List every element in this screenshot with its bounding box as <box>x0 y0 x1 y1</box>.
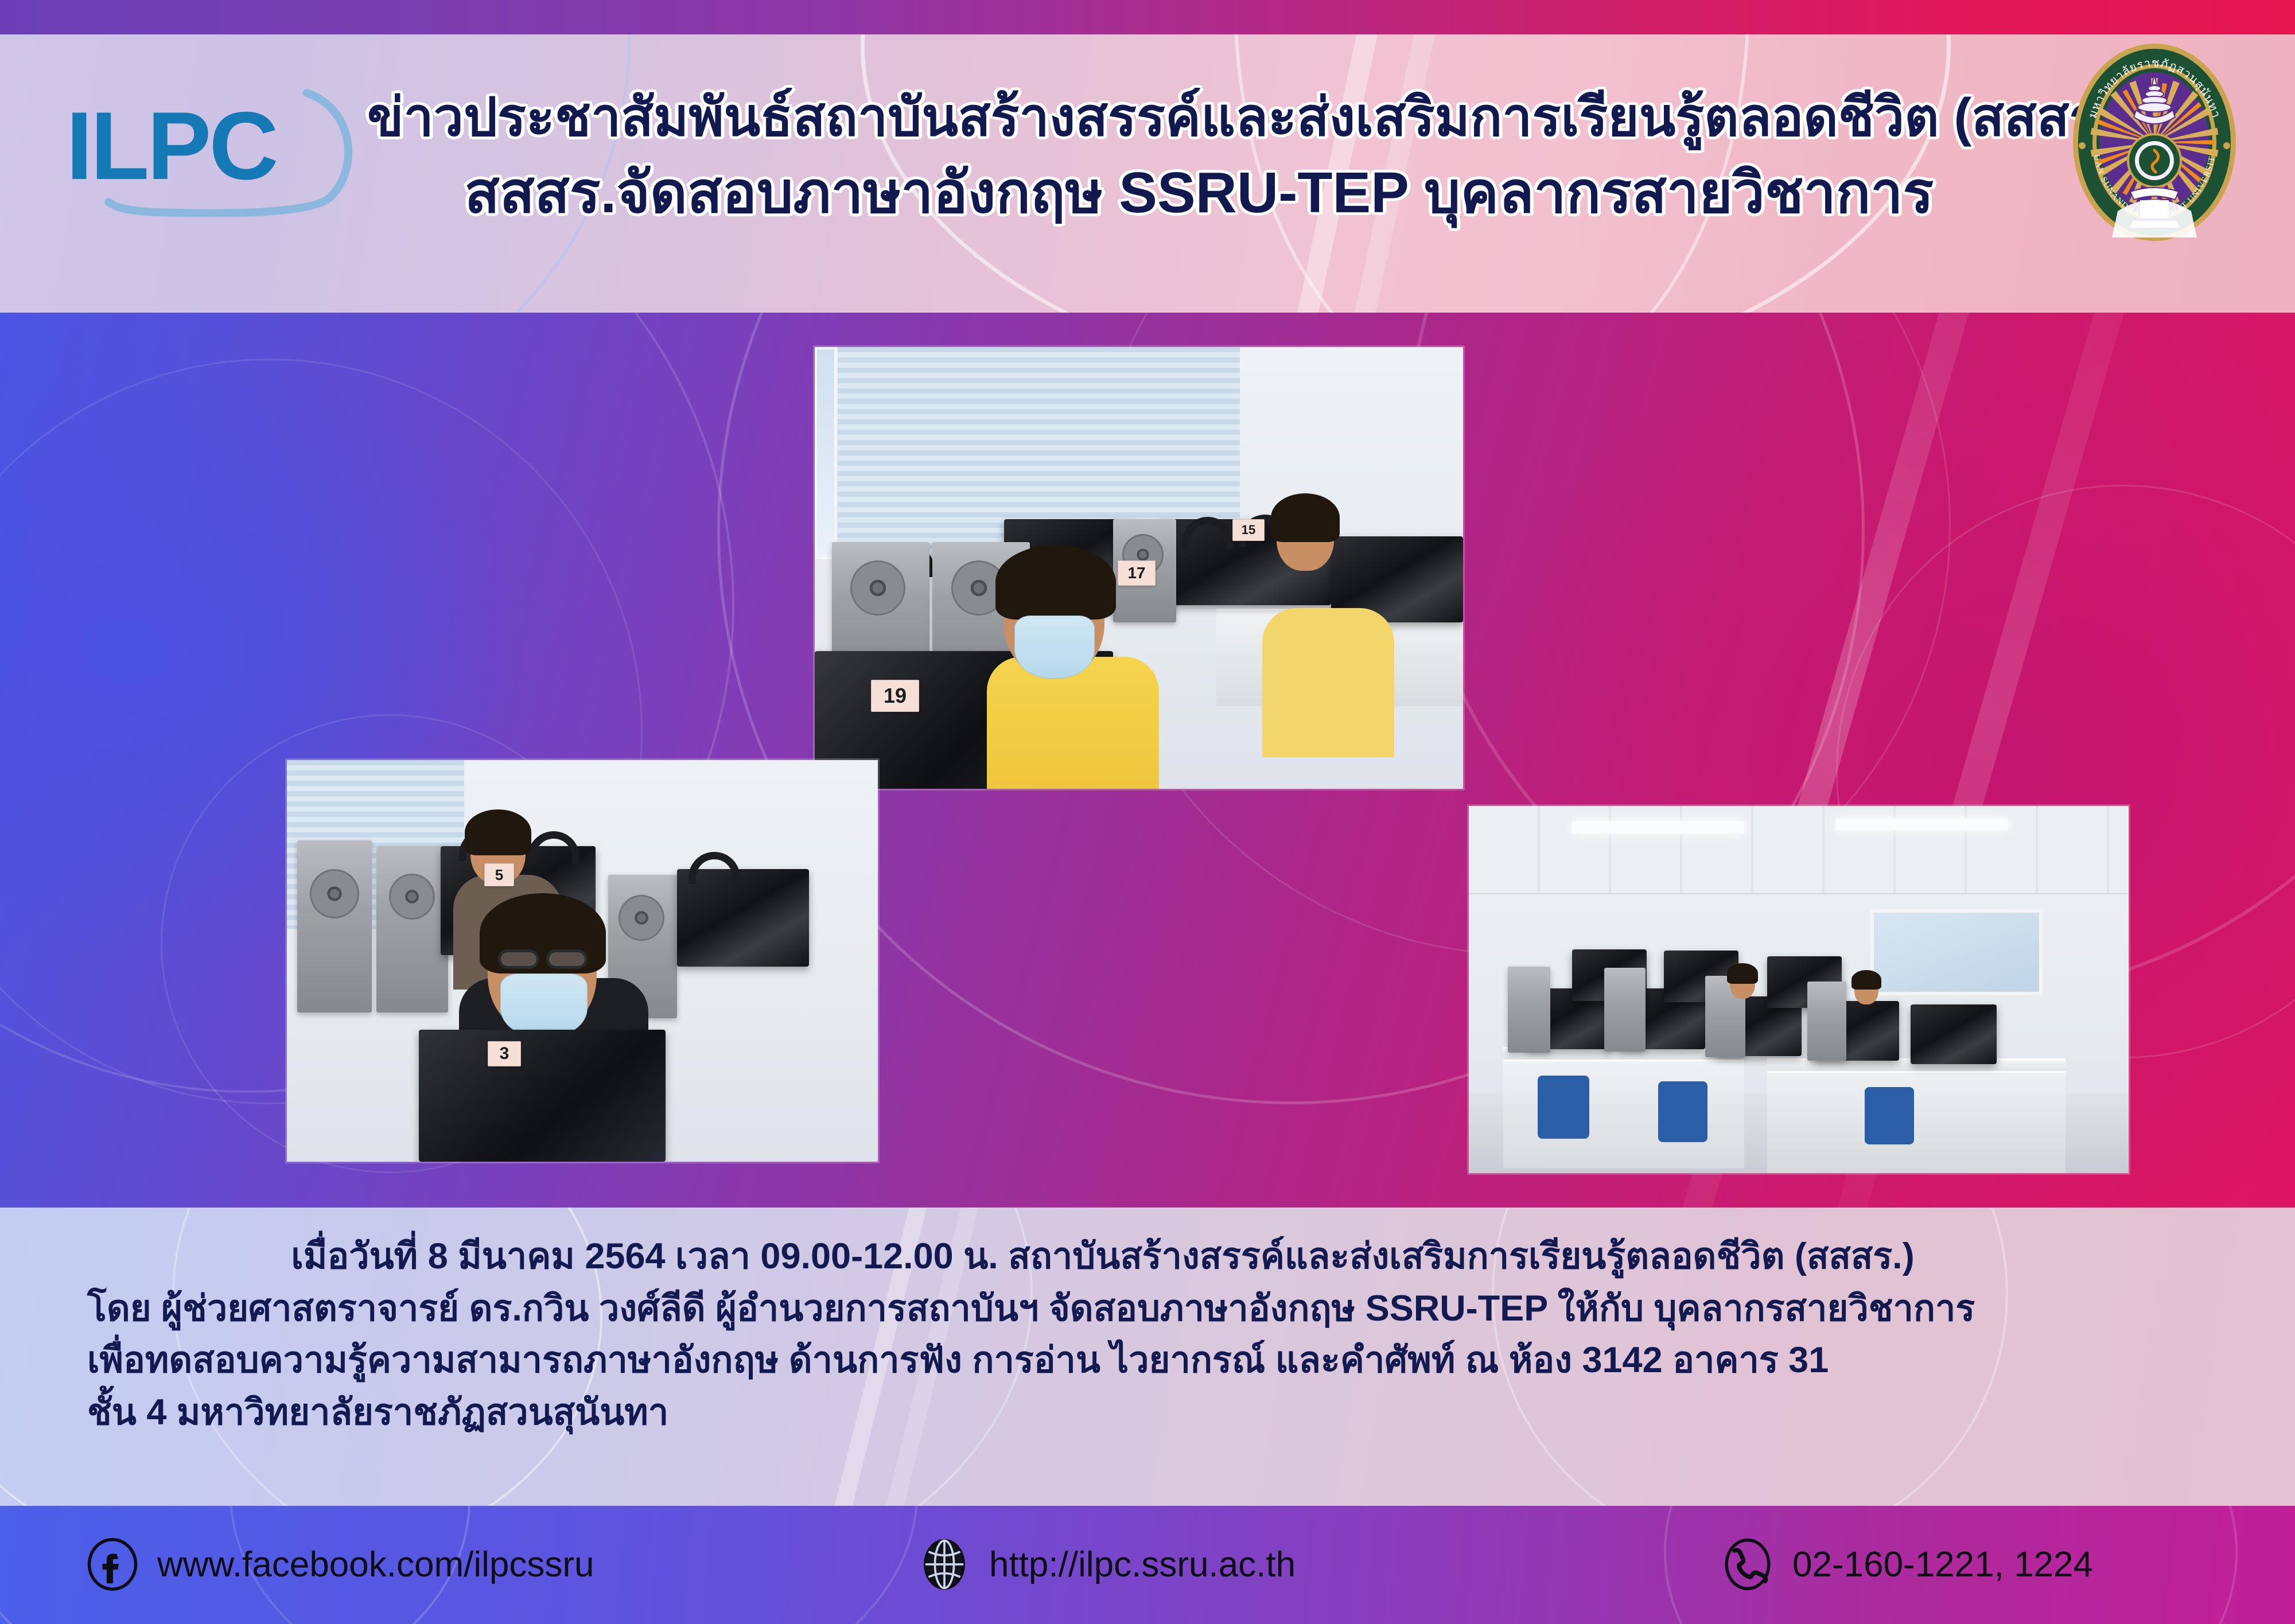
photo-collage-area: 19 17 15 <box>0 313 2295 1208</box>
caption-line-2: โดย ผู้ช่วยศาสตราจารย์ ดร.กวิน วงศ์ลีดี … <box>87 1283 2210 1335</box>
ssru-university-seal-icon: มหาวิทยาลัยราชภัฏสวนสุนันทา SUAN SUNANDH… <box>2068 39 2240 246</box>
top-accent-strip <box>0 0 2295 34</box>
poster-header: ILPC ข่าวประชาสัมพันธ์สถาบันสร้างสรรค์แล… <box>0 0 2295 313</box>
footer-phone[interactable]: 02-160-1221, 1224 <box>1721 1538 2093 1591</box>
seat-number-tag: 5 <box>484 863 514 886</box>
photo-exam-room-two-participants: 5 3 <box>287 760 878 1162</box>
caption-panel: เมื่อวันที่ 8 มีนาคม 2564 เวลา 09.00-12.… <box>0 1208 2295 1506</box>
footer-website[interactable]: http://ilpc.ssru.ac.th <box>918 1538 1296 1591</box>
caption-line-4: ชั้น 4 มหาวิทยาลัยราชภัฏสวนสุนันทา <box>87 1387 2210 1439</box>
seat-number-tag: 17 <box>1118 560 1156 586</box>
header-title-line-1: ข่าวประชาสัมพันธ์สถาบันสร้างสรรค์และส่งเ… <box>367 86 2031 149</box>
seat-number-tag: 15 <box>1232 519 1265 541</box>
seat-number-tag: 19 <box>871 680 919 712</box>
caption-text-block: เมื่อวันที่ 8 มีนาคม 2564 เวลา 09.00-12.… <box>87 1230 2210 1439</box>
footer-facebook-label: www.facebook.com/ilpcssru <box>157 1544 594 1585</box>
footer-facebook[interactable]: www.facebook.com/ilpcssru <box>86 1538 594 1591</box>
header-title-line-2: สสสร.จัดสอบภาษาอังกฤษ SSRU-TEP บุคลากรสา… <box>367 158 2031 227</box>
footer-website-label: http://ilpc.ssru.ac.th <box>989 1544 1296 1585</box>
ilpc-wordmark: ILPC <box>66 98 277 194</box>
photo-exam-room-student-foreground: 19 17 15 <box>815 347 1463 789</box>
seat-number-tag: 3 <box>488 1041 521 1066</box>
caption-line-3: เพื่อทดสอบความรู้ความสามารถภาษาอังกฤษ ด้… <box>87 1334 2210 1387</box>
header-title-block: ข่าวประชาสัมพันธ์สถาบันสร้างสรรค์และส่งเ… <box>367 86 2031 227</box>
photo-computer-lab-wide <box>1469 806 2129 1173</box>
phone-icon <box>1721 1538 1774 1591</box>
footer-phone-label: 02-160-1221, 1224 <box>1792 1544 2093 1585</box>
caption-line-1: เมื่อวันที่ 8 มีนาคม 2564 เวลา 09.00-12.… <box>87 1230 2210 1283</box>
globe-icon <box>918 1538 971 1591</box>
ilpc-logo: ILPC <box>60 85 404 217</box>
contact-footer: www.facebook.com/ilpcssru http://ilpc.ss… <box>0 1506 2295 1624</box>
facebook-icon <box>86 1538 139 1591</box>
news-banner-poster: 19 17 15 <box>0 0 2295 1624</box>
